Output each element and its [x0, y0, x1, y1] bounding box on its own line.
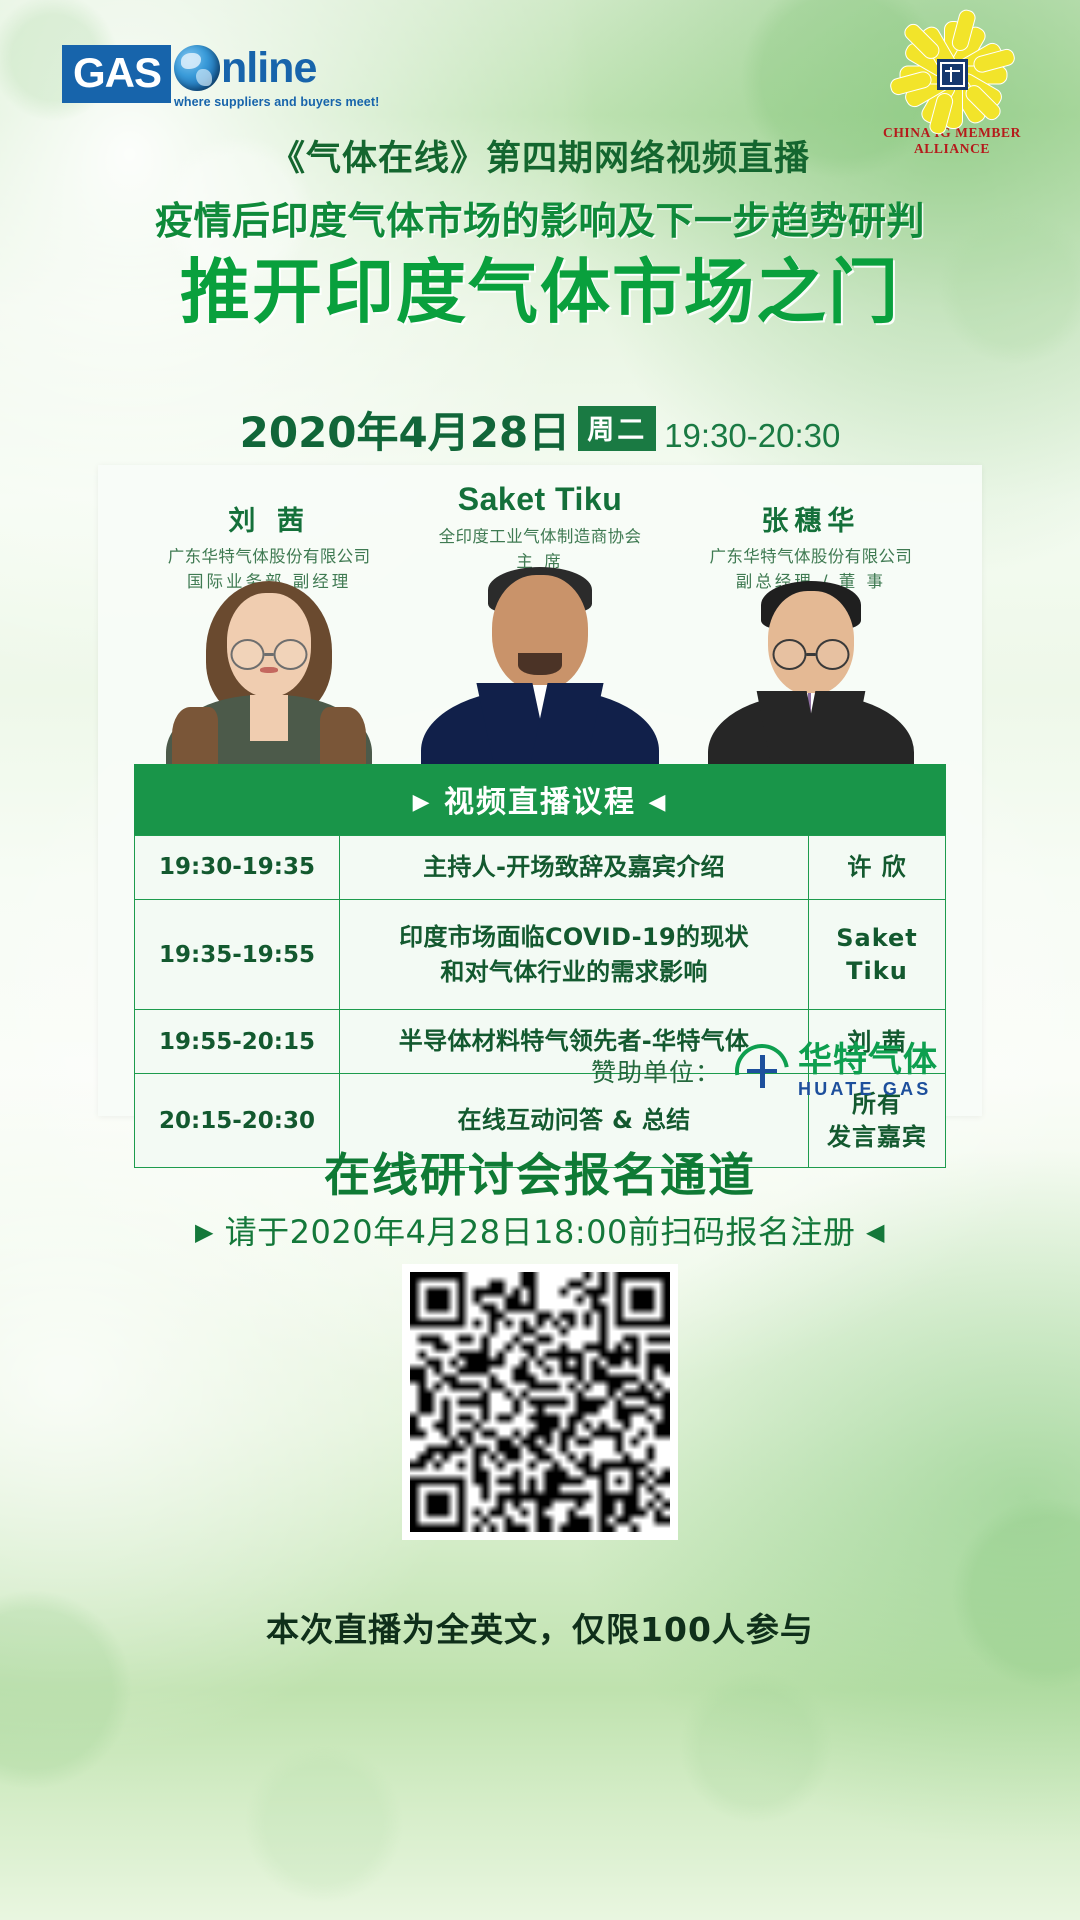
- speaker-portrait-1: [166, 579, 372, 777]
- sponsor-name-cn: 华特气体: [798, 1043, 938, 1077]
- agenda-time: 19:30-19:35: [135, 836, 340, 900]
- speaker-name: 张穗华: [688, 465, 934, 538]
- huate-gas-logo: 华特气体 HUATE GAS: [735, 1043, 938, 1098]
- speaker-org: 全印度工业气体制造商协会: [392, 525, 688, 550]
- speaker-card-2: Saket Tiku 全印度工业气体制造商协会 主 席: [392, 465, 688, 765]
- gas-online-logo: GAS nline where suppliers and buyers mee…: [62, 45, 379, 109]
- sponsor-label: 赞助单位：: [591, 1053, 721, 1089]
- gas-logo-online-wrap: nline where suppliers and buyers meet!: [174, 45, 379, 109]
- gas-logo-tagline: where suppliers and buyers meet!: [174, 95, 379, 109]
- footer-note: 本次直播为全英文，仅限100人参与: [0, 1603, 1080, 1651]
- huate-gas-wordmark: 华特气体 HUATE GAS: [798, 1043, 938, 1098]
- agenda-header: ▶ 视频直播议程 ◀: [134, 764, 946, 835]
- registration-subtitle-label: 请于2020年4月28日18:00前扫码报名注册: [225, 1213, 856, 1251]
- sponsor-name-en: HUATE GAS: [798, 1080, 938, 1098]
- agenda-time: 19:55-20:15: [135, 1010, 340, 1074]
- agenda-table: 19:30-19:35 主持人-开场致辞及嘉宾介绍 许 欣 19:35-19:5…: [134, 835, 946, 1168]
- agenda-header-label: 视频直播议程: [444, 785, 636, 820]
- event-datetime: 2020年4月28日周二19:30-20:30: [0, 399, 1080, 460]
- speaker-card-1: 刘 茜 广东华特气体股份有限公司 国际业务部 副经理: [146, 465, 392, 765]
- sunflower-icon: [892, 26, 1012, 122]
- agenda-speaker: 许 欣: [809, 836, 946, 900]
- qr-code-container[interactable]: [402, 1264, 678, 1540]
- huate-gas-logo-icon: [735, 1044, 789, 1098]
- speaker-portrait-2: [421, 567, 659, 777]
- triangle-right-icon: ▶: [413, 790, 432, 815]
- agenda-time: 19:35-19:55: [135, 899, 340, 1010]
- speaker-name: Saket Tiku: [392, 465, 688, 518]
- speaker-org: 广东华特气体股份有限公司: [146, 545, 392, 570]
- qr-code-icon[interactable]: [410, 1272, 670, 1532]
- event-date: 2020年4月28日: [240, 408, 571, 457]
- speaker-card-3: 张穗华 广东华特气体股份有限公司 副总经理 / 董 事: [688, 465, 934, 765]
- triangle-left-icon: ◀: [648, 790, 667, 815]
- agenda-section: ▶ 视频直播议程 ◀ 19:30-19:35 主持人-开场致辞及嘉宾介绍 许 欣…: [134, 764, 946, 1168]
- speaker-name: 刘 茜: [146, 465, 392, 538]
- series-title: 《气体在线》第四期网络视频直播: [0, 138, 1080, 182]
- agenda-speaker: SaketTiku: [809, 899, 946, 1010]
- registration-title: 在线研讨会报名通道: [0, 1139, 1080, 1205]
- sponsor-section: 赞助单位： 华特气体 HUATE GAS: [591, 1043, 938, 1098]
- table-row: 19:35-19:55 印度市场面临COVID-19的现状和对气体行业的需求影响…: [135, 899, 946, 1010]
- globe-icon: [174, 45, 220, 91]
- event-time-range: 19:30-20:30: [664, 417, 840, 454]
- poster-header: GAS nline where suppliers and buyers mee…: [0, 0, 1080, 150]
- gas-logo-online-text: nline: [221, 47, 316, 90]
- agenda-topic: 印度市场面临COVID-19的现状和对气体行业的需求影响: [340, 899, 809, 1010]
- content-card: 刘 茜 广东华特气体股份有限公司 国际业务部 副经理: [98, 465, 982, 1116]
- gas-logo-online-row: nline: [174, 45, 379, 91]
- subtitle: 疫情后印度气体市场的影响及下一步趋势研判: [0, 199, 1080, 245]
- page-title: 推开印度气体市场之门: [0, 254, 1080, 331]
- table-row: 19:30-19:35 主持人-开场致辞及嘉宾介绍 许 欣: [135, 836, 946, 900]
- webinar-poster: GAS nline where suppliers and buyers mee…: [0, 0, 1080, 1920]
- speaker-portrait-3: [708, 581, 914, 777]
- poster-titles: 《气体在线》第四期网络视频直播 疫情后印度气体市场的影响及下一步趋势研判 推开印…: [0, 138, 1080, 331]
- triangle-right-icon: ▶: [195, 1218, 214, 1246]
- ig-logo-center-emblem: [937, 59, 968, 90]
- speakers-section: 刘 茜 广东华特气体股份有限公司 国际业务部 副经理: [98, 465, 982, 765]
- registration-subtitle: ▶ 请于2020年4月28日18:00前扫码报名注册 ◀: [0, 1207, 1080, 1253]
- speaker-org: 广东华特气体股份有限公司: [688, 545, 934, 570]
- triangle-left-icon: ◀: [866, 1218, 885, 1246]
- agenda-topic: 主持人-开场致辞及嘉宾介绍: [340, 836, 809, 900]
- event-weekday-badge: 周二: [578, 406, 656, 451]
- gas-logo-box: GAS: [62, 45, 171, 103]
